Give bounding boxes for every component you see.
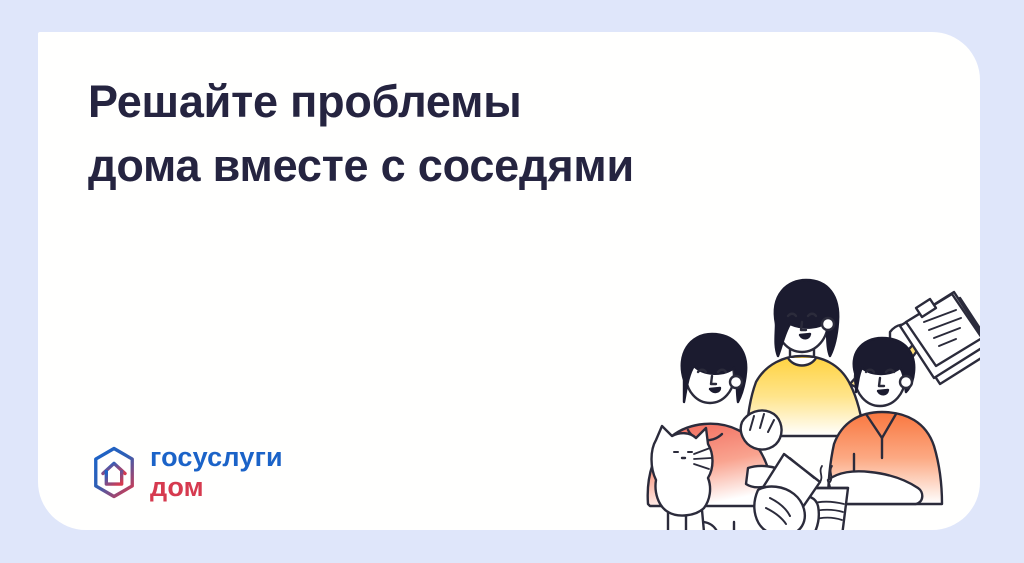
- promo-card: Решайте проблемы дома вместе с соседями: [38, 32, 980, 530]
- house-in-hexagon-icon: [90, 446, 138, 499]
- raised-hand: [741, 410, 782, 449]
- gosuslugi-dom-logo[interactable]: госуслуги дом: [90, 444, 283, 501]
- logo-text-dom: дом: [150, 474, 283, 501]
- page-title: Решайте проблемы дома вместе с соседями: [88, 70, 748, 198]
- neighbours-illustration: [638, 272, 980, 530]
- logo-text-gosuslugi: госуслуги: [150, 444, 283, 471]
- logo-wordmark: госуслуги дом: [150, 444, 283, 501]
- promo-banner: Решайте проблемы дома вместе с соседями: [0, 0, 1024, 563]
